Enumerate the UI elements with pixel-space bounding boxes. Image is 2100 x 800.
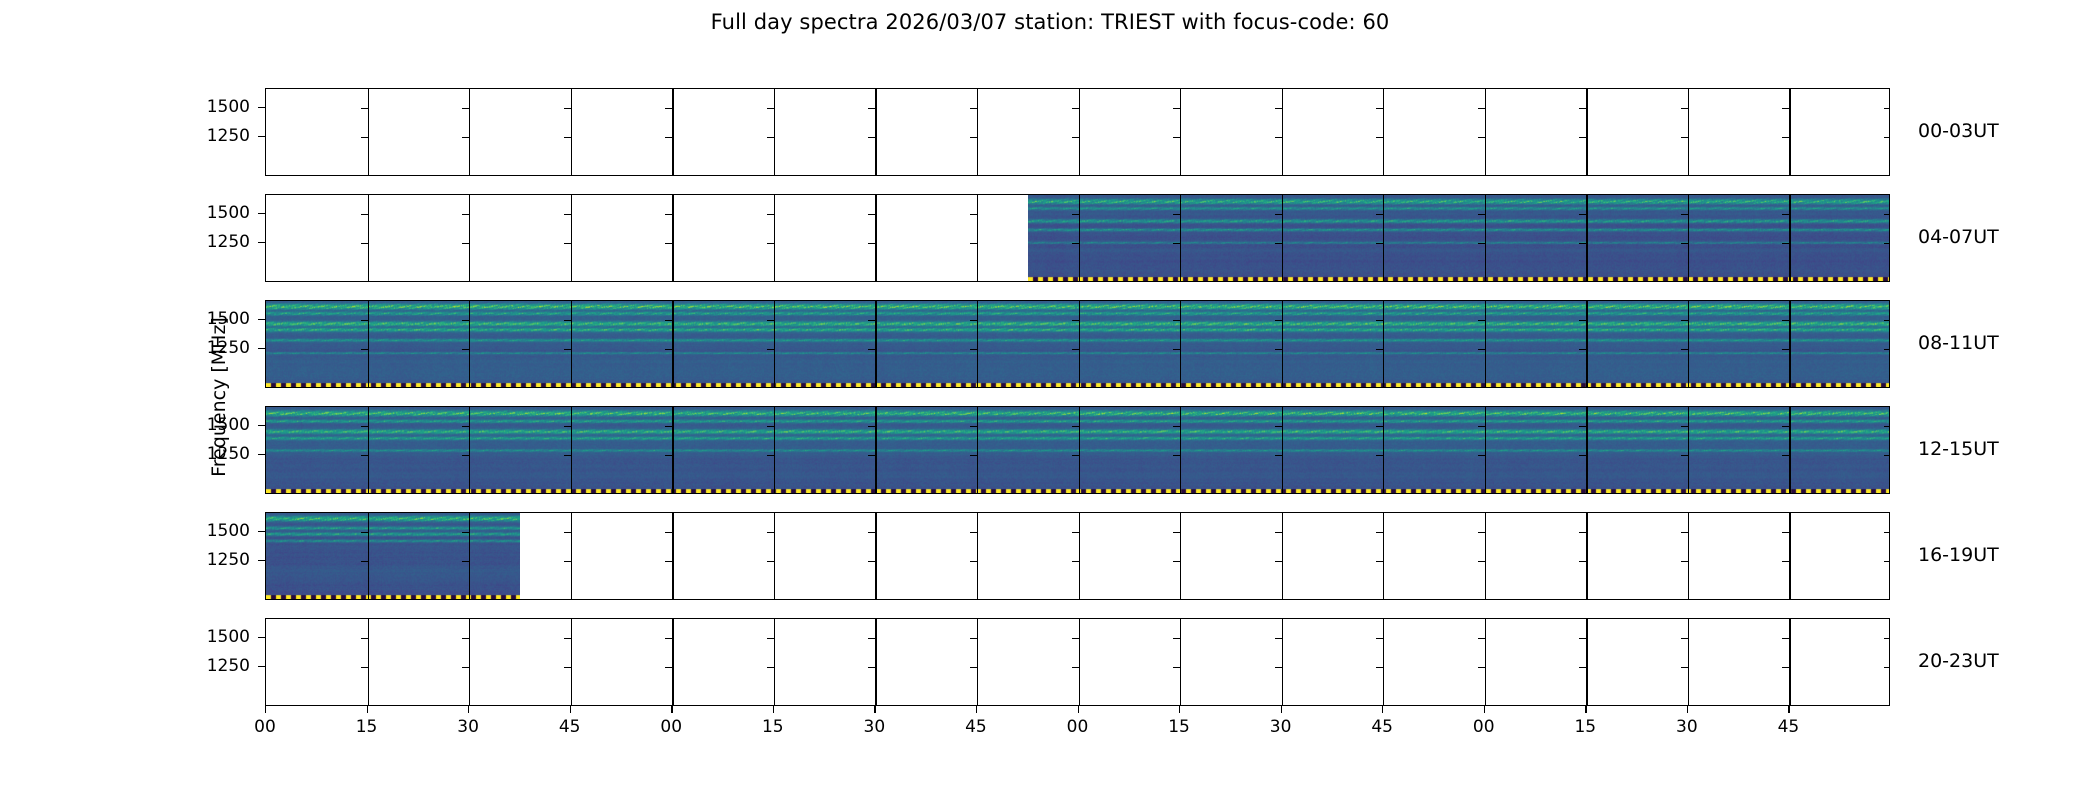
y-tick-mark-interior [970,667,977,668]
y-tick-mark-interior [1173,667,1180,668]
x-tick-mark [468,706,469,713]
y-tick-mark-interior [1173,108,1180,109]
subpanel-divider [875,89,876,175]
subpanel-divider [571,195,572,281]
y-tick-mark [258,348,265,349]
y-tick-mark-interior [1681,532,1688,533]
y-tick-mark-interior [1884,214,1890,215]
y-tick-mark-interior [462,561,469,562]
x-tick-mark [1687,706,1688,713]
subpanel-divider [1282,407,1283,493]
y-tick-mark-interior [564,137,571,138]
x-tick-label: 30 [864,717,886,737]
subpanel-divider [368,513,369,599]
y-tick-mark-interior [1376,532,1383,533]
subpanel-divider [1485,301,1486,387]
x-tick-mark [874,706,875,713]
y-tick-mark-interior [970,426,977,427]
y-tick-mark-interior [1275,349,1282,350]
subpanel-divider [1180,619,1181,705]
y-tick-mark [258,454,265,455]
subpanel-divider [1180,89,1181,175]
y-tick-mark-interior [1275,214,1282,215]
y-tick-mark-interior [970,561,977,562]
y-tick-mark-interior [1173,320,1180,321]
y-tick-mark-interior [1782,243,1789,244]
row-label-12-15ut: 12-15UT [1918,438,1999,460]
y-tick-mark-interior [462,426,469,427]
y-tick-mark-interior [1681,108,1688,109]
y-tick-mark-interior [868,455,875,456]
y-tick-mark-interior [1275,561,1282,562]
subpanel-divider [1079,301,1080,387]
subpanel-divider [1789,195,1790,281]
y-tick-mark-interior [1579,561,1586,562]
y-tick-mark-interior [970,137,977,138]
y-tick-label: 1250 [155,232,250,252]
x-tick-label: 15 [1168,717,1190,737]
x-tick-label: 30 [457,717,479,737]
y-tick-mark-interior [462,320,469,321]
subpanel-divider [1789,407,1790,493]
y-tick-mark-interior [1884,561,1890,562]
x-tick-mark [1078,706,1079,713]
y-tick-mark-interior [1782,214,1789,215]
y-tick-mark-interior [1072,455,1079,456]
x-tick-label: 15 [356,717,378,737]
y-tick-mark-interior [1173,455,1180,456]
y-tick-mark-interior [767,455,774,456]
y-tick-mark-interior [361,137,368,138]
subpanel-divider [571,301,572,387]
y-tick-mark-interior [1681,667,1688,668]
y-tick-mark-interior [1478,349,1485,350]
subpanel-divider [1688,407,1689,493]
y-tick-mark-interior [1782,108,1789,109]
y-tick-mark-interior [868,320,875,321]
subpanel-divider [1079,513,1080,599]
y-tick-mark-interior [767,137,774,138]
y-tick-mark-interior [1072,426,1079,427]
x-tick-mark [1382,706,1383,713]
y-tick-mark-interior [767,243,774,244]
y-tick-mark-interior [1275,638,1282,639]
y-tick-mark-interior [462,243,469,244]
subpanel-divider [1180,301,1181,387]
subpanel-divider [1383,407,1384,493]
y-tick-mark-interior [1173,638,1180,639]
subpanel-divider [672,513,673,599]
y-tick-mark-interior [564,561,571,562]
y-tick-mark-interior [1275,137,1282,138]
x-tick-label: 30 [1676,717,1698,737]
y-tick-mark-interior [1782,667,1789,668]
subpanel-divider [774,619,775,705]
subpanel-divider [1586,89,1587,175]
subpanel-divider [1282,513,1283,599]
y-tick-mark [258,213,265,214]
spectrogram-row-16-19ut[interactable] [265,512,1890,600]
y-tick-mark-interior [1072,243,1079,244]
x-tick-mark [773,706,774,713]
subpanel-divider [672,301,673,387]
x-tick-mark [1585,706,1586,713]
y-tick-mark-interior [868,243,875,244]
subpanel-divider [1180,195,1181,281]
y-tick-label: 1250 [155,338,250,358]
y-tick-mark-interior [1376,455,1383,456]
y-tick-mark-interior [1884,320,1890,321]
spectrogram-row-08-11ut[interactable] [265,300,1890,388]
y-tick-mark-interior [1275,108,1282,109]
y-tick-mark-interior [564,243,571,244]
subpanel-divider [1688,89,1689,175]
subpanel-divider [977,195,978,281]
y-tick-mark-interior [1579,214,1586,215]
y-tick-mark-interior [361,243,368,244]
subpanel-divider [571,513,572,599]
y-tick-mark-interior [1782,455,1789,456]
subpanel-divider [875,195,876,281]
y-tick-mark-interior [1072,532,1079,533]
x-tick-mark [1484,706,1485,713]
y-tick-mark-interior [1782,638,1789,639]
x-tick-mark [1281,706,1282,713]
y-tick-mark-interior [970,320,977,321]
subpanel-divider [1586,407,1587,493]
y-tick-mark-interior [1579,108,1586,109]
subpanel-divider [469,301,470,387]
y-tick-mark-interior [361,667,368,668]
y-tick-mark-interior [462,137,469,138]
y-tick-mark-interior [564,455,571,456]
subpanel-divider [1789,301,1790,387]
subpanel-divider [1282,619,1283,705]
x-tick-label: 45 [965,717,987,737]
subpanel-divider [1688,195,1689,281]
subpanel-divider [1282,89,1283,175]
y-tick-mark-interior [1275,426,1282,427]
y-tick-mark-interior [1884,137,1890,138]
y-tick-mark-interior [665,561,672,562]
row-label-08-11ut: 08-11UT [1918,332,1999,354]
spectrogram-row-20-23ut[interactable] [265,618,1890,706]
subpanel-divider [1383,513,1384,599]
subpanel-divider [1079,407,1080,493]
y-tick-mark-interior [564,320,571,321]
subpanel-divider [977,513,978,599]
subpanel-divider [1586,195,1587,281]
y-tick-label: 1250 [155,550,250,570]
y-tick-mark [258,136,265,137]
y-tick-mark [258,242,265,243]
subpanel-divider [875,407,876,493]
y-tick-label: 1500 [155,203,250,223]
subpanel-divider [1485,407,1486,493]
subpanel-divider [977,619,978,705]
y-tick-mark-interior [1072,561,1079,562]
y-tick-mark-interior [462,108,469,109]
y-tick-mark-interior [1478,320,1485,321]
y-tick-mark-interior [868,638,875,639]
row-label-20-23ut: 20-23UT [1918,650,1999,672]
y-tick-mark-interior [1681,561,1688,562]
y-tick-mark-interior [1681,214,1688,215]
subpanel-divider [368,619,369,705]
y-axis-label: Frequency [MHz] [208,88,230,706]
y-tick-mark-interior [1478,108,1485,109]
y-tick-mark-interior [1072,667,1079,668]
y-tick-mark-interior [970,349,977,350]
y-tick-mark-interior [868,426,875,427]
y-tick-mark-interior [970,455,977,456]
subpanel-divider [368,89,369,175]
y-tick-mark-interior [1478,426,1485,427]
y-tick-mark-interior [1579,532,1586,533]
y-tick-mark-interior [1072,320,1079,321]
subpanel-divider [977,407,978,493]
y-tick-mark-interior [970,638,977,639]
subpanel-divider [1079,195,1080,281]
y-tick-mark-interior [1275,455,1282,456]
x-tick-label: 00 [1067,717,1089,737]
y-tick-mark-interior [361,638,368,639]
y-tick-mark-interior [665,638,672,639]
subpanel-divider [774,513,775,599]
spectrogram-row-04-07ut[interactable] [265,194,1890,282]
y-tick-mark-interior [1884,638,1890,639]
subpanel-divider [368,301,369,387]
y-tick-mark-interior [1376,426,1383,427]
y-tick-mark-interior [1782,561,1789,562]
y-tick-mark-interior [1782,137,1789,138]
y-tick-mark-interior [361,214,368,215]
y-tick-mark-interior [1478,532,1485,533]
y-tick-label: 1500 [155,415,250,435]
y-tick-mark-interior [868,667,875,668]
y-tick-mark-interior [1579,426,1586,427]
y-tick-mark-interior [767,349,774,350]
y-tick-mark-interior [1681,638,1688,639]
subpanel-divider [571,407,572,493]
y-tick-mark-interior [361,532,368,533]
subpanel-divider [977,89,978,175]
y-tick-mark-interior [1579,667,1586,668]
subpanel-divider [1485,513,1486,599]
y-tick-mark-interior [767,532,774,533]
y-tick-mark-interior [1376,243,1383,244]
y-tick-mark [258,531,265,532]
spectra-figure: Full day spectra 2026/03/07 station: TRI… [0,0,2100,800]
y-tick-mark-interior [564,349,571,350]
row-label-04-07ut: 04-07UT [1918,226,1999,248]
subpanel-divider [1485,619,1486,705]
y-tick-mark-interior [970,108,977,109]
y-tick-mark-interior [1072,137,1079,138]
subpanel-divider [1079,89,1080,175]
y-tick-mark-interior [665,426,672,427]
subpanel-divider [1586,301,1587,387]
x-tick-label: 15 [762,717,784,737]
y-tick-mark-interior [1275,320,1282,321]
y-tick-mark [258,637,265,638]
subpanel-divider [1688,301,1689,387]
y-tick-mark-interior [361,320,368,321]
y-tick-mark-interior [665,532,672,533]
subpanel-divider [1383,195,1384,281]
y-tick-mark-interior [1681,320,1688,321]
y-tick-mark-interior [1681,349,1688,350]
y-tick-mark [258,425,265,426]
subpanel-divider [1180,513,1181,599]
y-tick-mark-interior [767,214,774,215]
y-tick-mark-interior [361,349,368,350]
y-tick-mark-interior [665,243,672,244]
x-tick-label: 15 [1574,717,1596,737]
subpanel-divider [875,619,876,705]
y-tick-mark-interior [564,638,571,639]
y-tick-mark-interior [361,455,368,456]
y-tick-mark-interior [665,349,672,350]
subpanel-divider [469,513,470,599]
y-tick-mark-interior [462,532,469,533]
y-tick-mark-interior [1884,455,1890,456]
y-tick-mark-interior [564,667,571,668]
subpanel-divider [774,407,775,493]
subpanel-divider [1383,89,1384,175]
row-label-00-03ut: 00-03UT [1918,120,1999,142]
subpanel-divider [1180,407,1181,493]
y-tick-mark-interior [868,532,875,533]
y-tick-mark-interior [1681,243,1688,244]
y-tick-mark-interior [767,108,774,109]
subpanel-divider [672,89,673,175]
x-tick-mark [1788,706,1789,713]
y-tick-mark-interior [1478,455,1485,456]
x-tick-label: 45 [559,717,581,737]
y-tick-mark-interior [1072,638,1079,639]
y-tick-mark-interior [1376,349,1383,350]
y-tick-mark-interior [1884,532,1890,533]
y-tick-mark-interior [1681,426,1688,427]
y-tick-mark-interior [1173,561,1180,562]
y-tick-mark-interior [1579,349,1586,350]
y-tick-mark [258,666,265,667]
subpanel-divider [469,619,470,705]
y-tick-mark-interior [564,108,571,109]
y-tick-mark-interior [1275,243,1282,244]
subpanel-divider [1485,89,1486,175]
spectrogram-row-12-15ut[interactable] [265,406,1890,494]
subpanel-divider [672,407,673,493]
y-tick-mark-interior [1173,214,1180,215]
y-tick-mark-interior [1782,426,1789,427]
y-tick-mark-interior [665,667,672,668]
y-tick-label: 1500 [155,309,250,329]
y-tick-mark-interior [1478,214,1485,215]
y-tick-mark-interior [767,320,774,321]
y-tick-mark-interior [1884,667,1890,668]
y-tick-mark-interior [970,532,977,533]
y-tick-mark-interior [1579,638,1586,639]
y-tick-mark-interior [1884,243,1890,244]
y-tick-mark-interior [767,667,774,668]
y-tick-mark-interior [767,561,774,562]
subpanel-divider [1586,619,1587,705]
y-tick-mark-interior [361,561,368,562]
subpanel-divider [1789,513,1790,599]
y-tick-mark-interior [1376,638,1383,639]
y-tick-mark-interior [1478,243,1485,244]
x-tick-label: 45 [1778,717,1800,737]
subpanel-divider [875,301,876,387]
y-tick-mark-interior [1579,455,1586,456]
y-tick-mark-interior [361,108,368,109]
spectrogram-row-00-03ut[interactable] [265,88,1890,176]
page-title: Full day spectra 2026/03/07 station: TRI… [0,10,2100,34]
y-tick-mark-interior [462,455,469,456]
y-tick-mark-interior [1173,426,1180,427]
y-tick-mark-interior [1478,137,1485,138]
y-tick-mark-interior [1173,532,1180,533]
subpanel-divider [1383,619,1384,705]
y-tick-mark-interior [1478,561,1485,562]
y-tick-mark-interior [868,214,875,215]
y-tick-label: 1250 [155,656,250,676]
y-tick-mark-interior [665,214,672,215]
y-tick-mark-interior [1579,243,1586,244]
y-tick-mark-interior [665,137,672,138]
y-tick-mark-interior [1072,349,1079,350]
y-tick-mark-interior [1884,108,1890,109]
y-tick-mark-interior [1072,108,1079,109]
y-tick-mark-interior [1173,137,1180,138]
y-tick-mark-interior [1884,349,1890,350]
y-tick-mark-interior [1681,137,1688,138]
y-tick-mark-interior [868,108,875,109]
x-tick-label: 00 [1473,717,1495,737]
row-label-16-19ut: 16-19UT [1918,544,1999,566]
y-tick-mark-interior [1579,137,1586,138]
y-tick-mark-interior [1376,667,1383,668]
y-tick-mark-interior [665,320,672,321]
y-tick-mark-interior [462,214,469,215]
y-tick-mark-interior [1478,667,1485,668]
y-tick-mark-interior [1478,638,1485,639]
y-tick-mark-interior [767,638,774,639]
y-tick-mark-interior [767,426,774,427]
subpanel-divider [469,89,470,175]
y-tick-mark-interior [1782,532,1789,533]
subpanel-divider [1789,619,1790,705]
subpanel-divider [1282,195,1283,281]
x-tick-mark [976,706,977,713]
y-tick-mark-interior [868,349,875,350]
subpanel-divider [1282,301,1283,387]
y-tick-mark-interior [1782,349,1789,350]
subpanel-divider [774,89,775,175]
x-tick-label: 00 [254,717,276,737]
y-tick-mark-interior [970,243,977,244]
y-tick-mark [258,107,265,108]
spectrogram-data [266,513,520,599]
subpanel-divider [1079,619,1080,705]
subpanel-divider [571,89,572,175]
y-tick-mark-interior [665,108,672,109]
subpanel-divider [1789,89,1790,175]
subpanel-divider [977,301,978,387]
y-tick-mark-interior [1173,243,1180,244]
